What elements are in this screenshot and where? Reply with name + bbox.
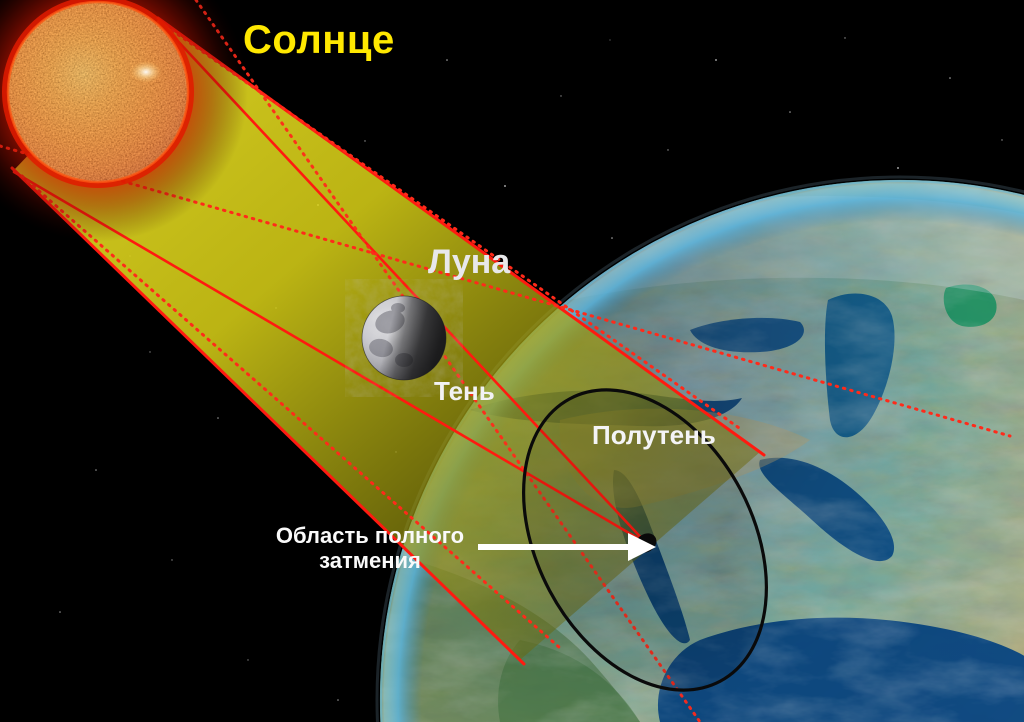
sun-active-region	[130, 61, 162, 83]
scene-canvas	[0, 0, 1024, 722]
moon	[362, 296, 446, 380]
eclipse-diagram: Солнце Луна Тень Полутень Область полног…	[0, 0, 1024, 722]
